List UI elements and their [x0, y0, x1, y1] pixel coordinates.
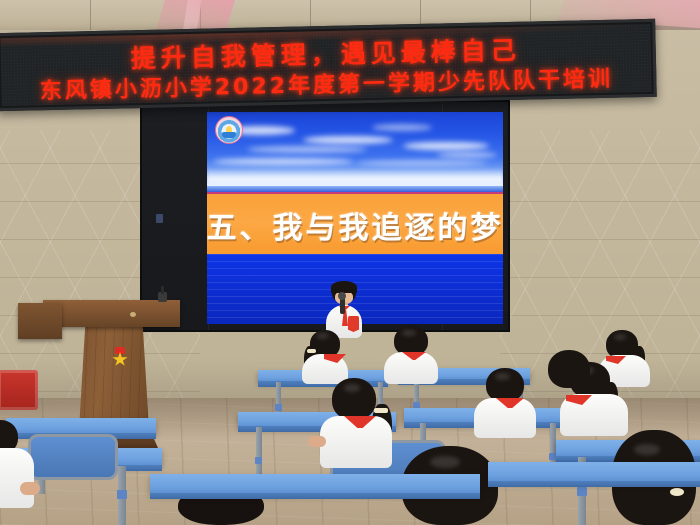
slide-horizon-glow: [207, 168, 503, 188]
slide-title: 五、我与我追逐的梦: [207, 203, 503, 247]
young-pioneers-emblem-icon: [110, 347, 130, 367]
lectern-side-ledge: [18, 303, 62, 339]
display-control-left[interactable]: [156, 214, 163, 223]
desk-row3-leftback[interactable]: [6, 418, 156, 434]
desk-leg: [118, 466, 126, 525]
school-emblem-icon: [215, 116, 243, 144]
lectern-top: [43, 300, 180, 327]
red-chair[interactable]: [0, 370, 38, 410]
led-banner: 提升自我管理，遇见最棒自己 东风镇小沥小学2022年度第一学期少先队队干培训: [0, 19, 657, 111]
lectern-microphone-stem: [161, 286, 164, 294]
classroom-photo-scene: 五、我与我追逐的梦 提升自我管理，遇见最棒自己 东风镇小沥小学2022年度第一学…: [0, 0, 700, 525]
lectern-knob: [130, 312, 136, 317]
chair-row3-left[interactable]: [28, 434, 118, 480]
desk-foreground-right[interactable]: [488, 462, 700, 482]
desk-foreground[interactable]: [150, 474, 480, 494]
slide-title-band: 五、我与我追逐的梦: [207, 192, 503, 256]
